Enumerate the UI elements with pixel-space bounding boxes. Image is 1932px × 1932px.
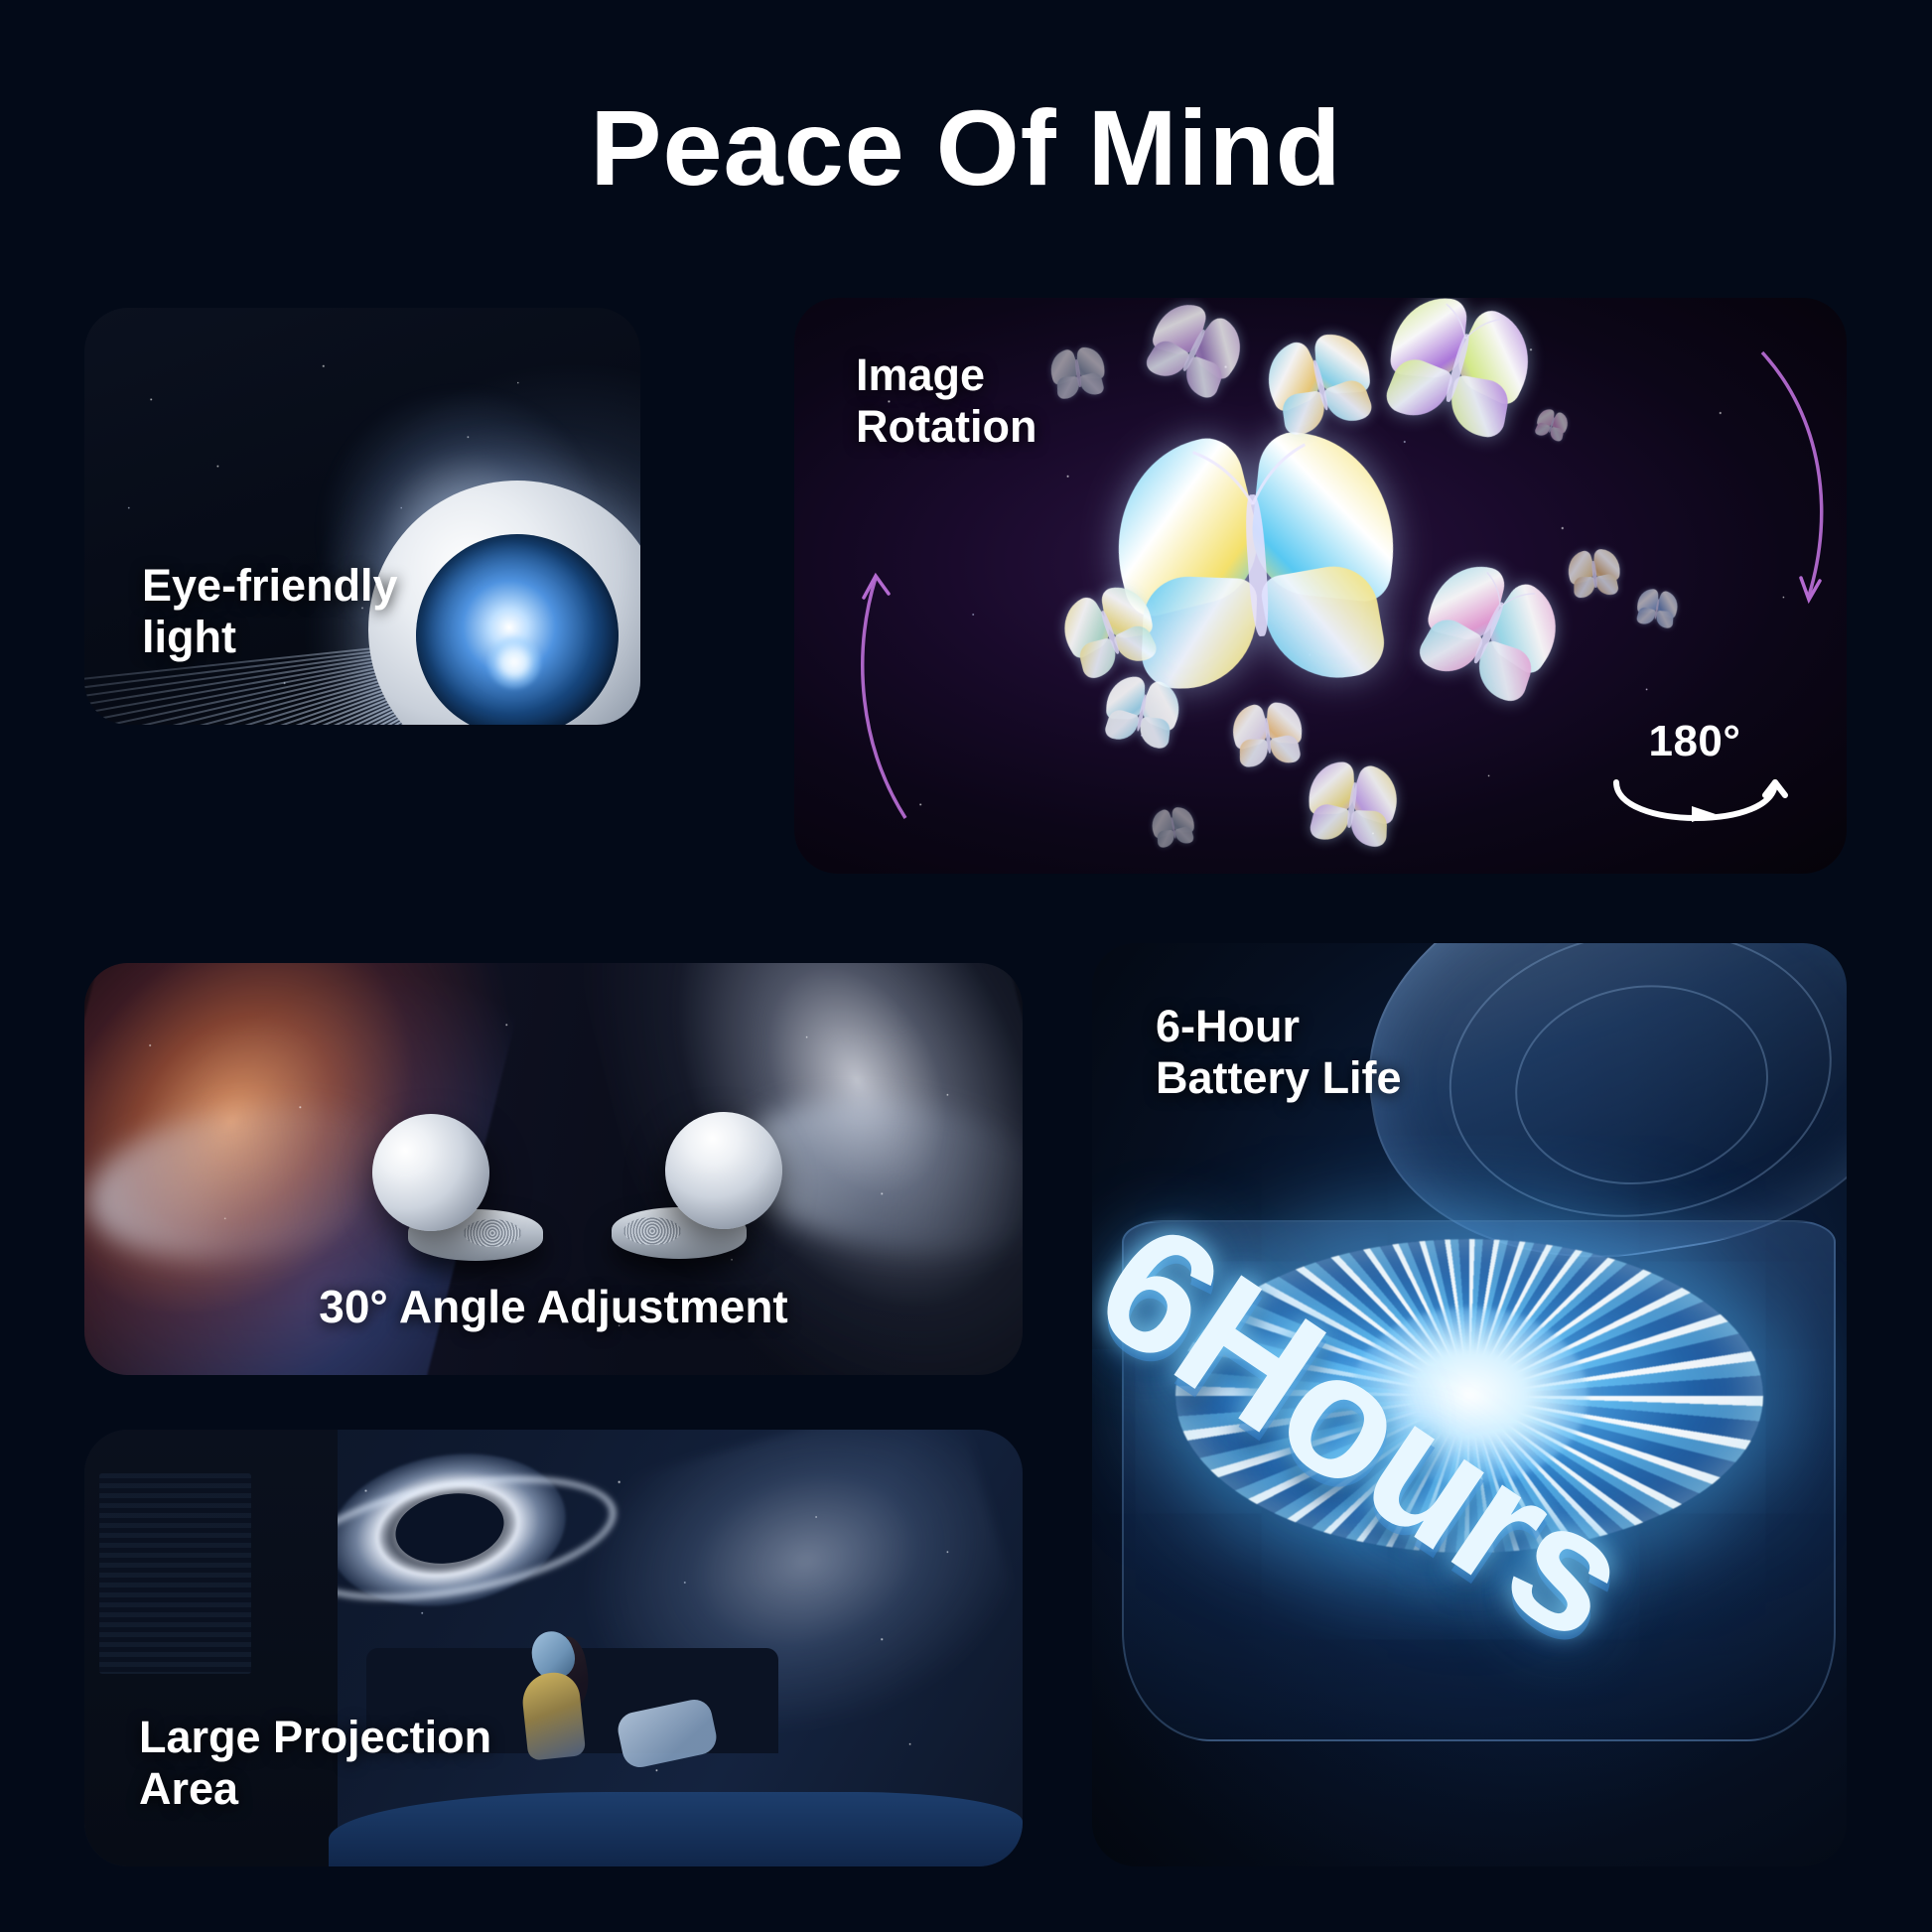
black-hole-icon (329, 1455, 567, 1604)
rotation-arrow-icon (1600, 762, 1789, 822)
rotation-badge-value: 180° (1600, 717, 1789, 766)
panel-large-projection-area[interactable]: Large Projection Area (84, 1430, 1023, 1866)
infographic-page: Peace Of Mind Eye-friendly light 180° Im… (0, 0, 1932, 1932)
butterfly-decoration (1632, 588, 1682, 630)
panel-label-large-projection: Large Projection Area (139, 1712, 491, 1815)
panel-label-image-rotation: Image Rotation (856, 349, 1036, 453)
panel-label-battery: 6-Hour Battery Life (1156, 1001, 1402, 1104)
butterfly-decoration (1300, 759, 1405, 850)
panel-battery-life[interactable]: 6Hours 6-Hour Battery Life (1092, 943, 1847, 1866)
person-looking-up-icon (516, 1631, 588, 1770)
panel-angle-adjustment[interactable]: 30° Angle Adjustment (84, 963, 1023, 1375)
panel-label-angle-adjustment: 30° Angle Adjustment (84, 1281, 1023, 1333)
butterfly-decoration (1564, 549, 1623, 601)
window-blind-decoration (99, 1473, 251, 1674)
rotation-badge-180: 180° (1600, 717, 1789, 822)
butterfly-decoration (1046, 345, 1110, 400)
butterfly-decoration (1228, 702, 1308, 769)
panel-label-eye-friendly: Eye-friendly light (142, 560, 398, 663)
page-title: Peace Of Mind (0, 91, 1932, 204)
butterfly-decoration (1148, 805, 1199, 850)
panel-eye-friendly-light[interactable]: Eye-friendly light (84, 308, 640, 725)
panel-image-rotation[interactable]: 180° Image Rotation (794, 298, 1847, 874)
